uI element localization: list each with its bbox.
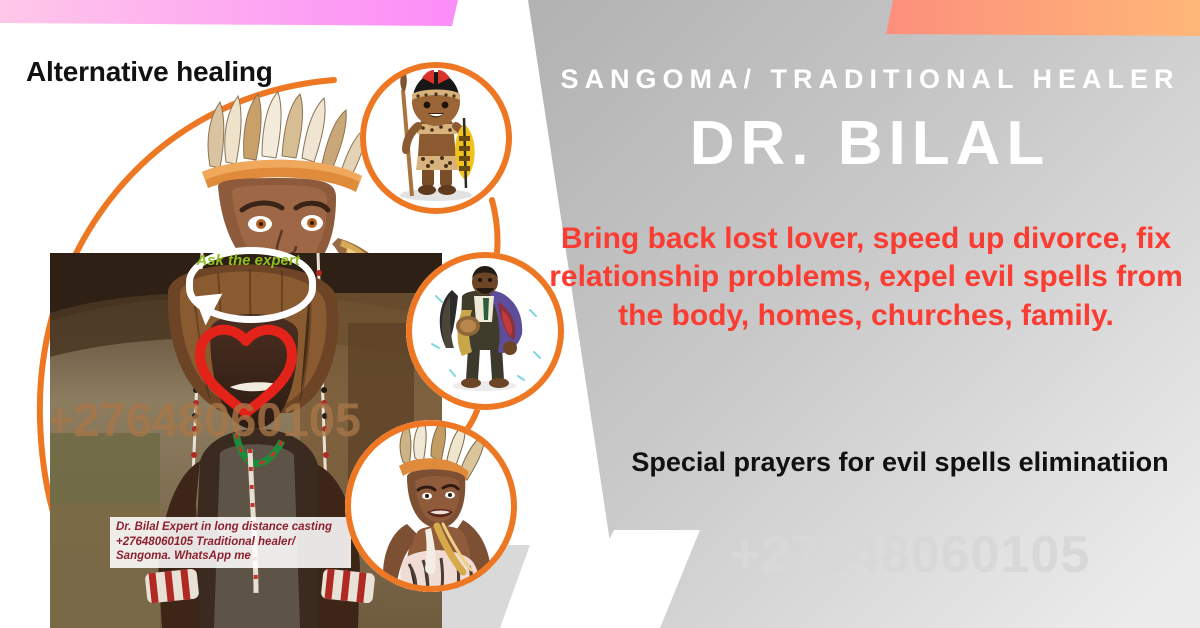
traditional-healer-figure-icon [406,252,564,410]
page-title: Alternative healing [26,56,273,88]
photo-caption: Dr. Bilal Expert in long distance castin… [110,517,351,568]
speech-bubble-tail [195,294,226,327]
services-text: Bring back lost lover, speed up divorce,… [546,220,1186,335]
top-bar-orange [886,0,1200,36]
prayers-text: Special prayers for evil spells eliminat… [610,445,1190,480]
zulu-warrior-cartoon-icon [360,62,512,214]
circle-photo-zulu-warrior [360,62,512,214]
kicker-title: SANGOMA/ TRADITIONAL HEALER [560,64,1180,95]
speech-bubble-text: Ask the expert [196,252,300,271]
circle-photo-crouching-sangoma [345,420,517,592]
top-bar-pink [0,0,458,26]
poster-canvas: Alternative healing [0,0,1200,628]
contact-phone: +27648060105 [620,525,1200,585]
circle-photo-healer-figure [406,252,564,410]
crouching-sangoma-icon [345,420,517,592]
healer-name: DR. BILAL [560,108,1180,179]
photo-watermark-phone: +27648060105 [50,392,361,447]
